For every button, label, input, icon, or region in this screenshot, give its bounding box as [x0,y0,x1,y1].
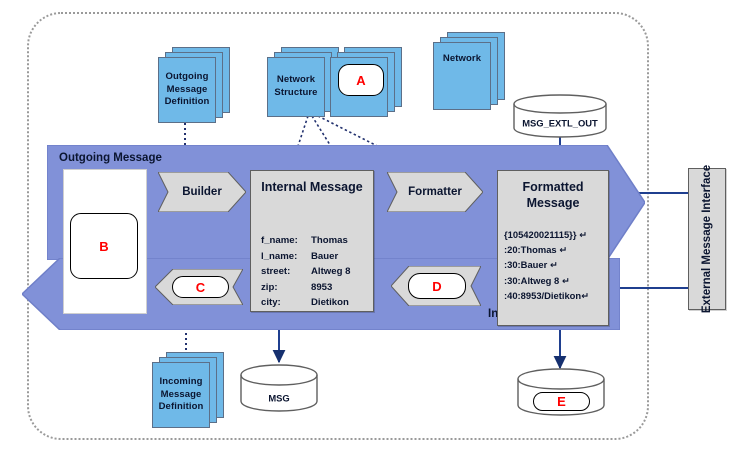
internal-message-title: Internal Message [251,179,373,195]
card-network-structure[interactable]: Network Structure [267,47,339,117]
field-row: l_name: Bauer [261,249,350,265]
card-label: Network [441,53,483,66]
field-value: Dietikon [311,295,349,311]
internal-message-box: Internal Message f_name: Thomas l_name: … [250,170,374,312]
process-builder[interactable]: Builder [158,172,246,212]
field-value: Thomas [311,233,348,249]
field-key: street: [261,264,311,280]
formatted-message-title: Formatted Message [498,179,608,211]
process-unformatter-placeholder[interactable]: D [391,266,481,306]
formatted-message-box: Formatted Message {105420021115}} ↵ :20:… [497,170,609,326]
field-value: Altweg 8 [311,264,350,280]
formatted-line: :40:8953/Dietikon↵ [504,288,604,303]
formatted-line: {105420021115}} ↵ [504,227,604,242]
card-sheet-front: Outgoing Message Definition [158,57,216,123]
placeholder-b-box[interactable]: B [70,213,138,279]
field-value: Bauer [311,249,338,265]
placeholder-a-box[interactable]: A [338,64,384,96]
field-value: 8953 [311,280,332,296]
datastore-e-placeholder[interactable]: E [517,368,605,416]
card-sheet-front: Incoming Message Definition [152,362,210,428]
datastore-label: MSG [240,392,318,403]
card-network-structure-placeholder[interactable]: A [330,47,402,117]
formatted-line: :30:Bauer ↵ [504,257,604,272]
process-parser-pill[interactable]: C [172,276,229,298]
card-label: Network Structure [272,74,319,99]
card-sheet-front: Network Structure [267,57,325,117]
field-key: f_name: [261,233,311,249]
field-key: l_name: [261,249,311,265]
formatted-line: :30:Altweg 8 ↵ [504,273,604,288]
field-key: zip: [261,280,311,296]
placeholder-e-pill[interactable]: E [533,392,590,411]
field-row: zip: 8953 [261,280,350,296]
datastore-msg-extl-out[interactable]: MSG_EXTL_OUT [513,94,607,138]
card-label: Incoming Message Definition [157,376,206,414]
external-message-interface-label: External Message Interface [701,165,713,313]
internal-message-fields: f_name: Thomas l_name: Bauer street: Alt… [261,233,350,311]
card-sheet-front: Network [433,42,491,110]
field-row: f_name: Thomas [261,233,350,249]
card-outgoing-message-definition[interactable]: Outgoing Message Definition [158,47,230,123]
formatted-message-lines: {105420021115}} ↵ :20:Thomas ↵ :30:Bauer… [504,227,604,303]
datastore-msg[interactable]: MSG [240,364,318,412]
datastore-label: MSG_EXTL_OUT [513,118,607,129]
external-message-interface[interactable]: External Message Interface [688,168,726,310]
diagram-canvas: Outgoing Message Incoming Message B Buil… [0,0,747,459]
process-formatter[interactable]: Formatter [387,172,483,212]
card-network[interactable]: Network [433,32,505,110]
formatted-line: :20:Thomas ↵ [504,242,604,257]
band-outgoing-label: Outgoing Message [59,152,162,164]
process-parser-placeholder[interactable]: C [155,269,243,305]
field-row: street: Altweg 8 [261,264,350,280]
card-label: Outgoing Message Definition [163,71,212,109]
field-row: city: Dietikon [261,295,350,311]
card-incoming-message-definition[interactable]: Incoming Message Definition [152,352,224,428]
process-unformatter-pill[interactable]: D [408,273,466,299]
field-key: city: [261,295,311,311]
